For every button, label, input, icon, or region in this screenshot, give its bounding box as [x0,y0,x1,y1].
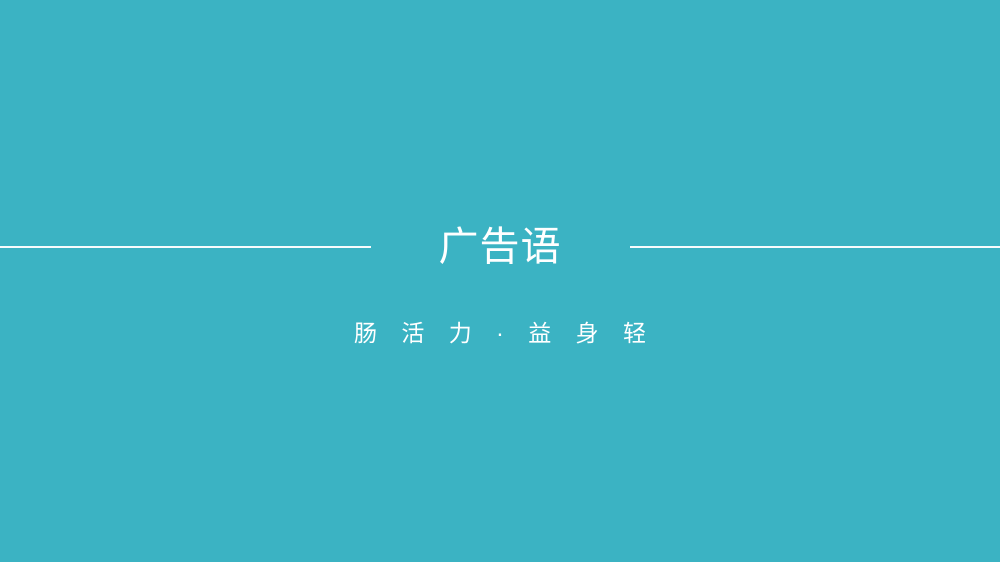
slide-canvas: 广告语 肠 活 力 · 益 身 轻 [0,0,1000,562]
divider-line-left [0,246,371,248]
title-band: 广告语 [0,0,1000,528]
slogan-text: 肠 活 力 · 益 身 轻 [0,320,1000,348]
divider-line-right [630,246,1000,248]
page-title: 广告语 [371,227,630,267]
